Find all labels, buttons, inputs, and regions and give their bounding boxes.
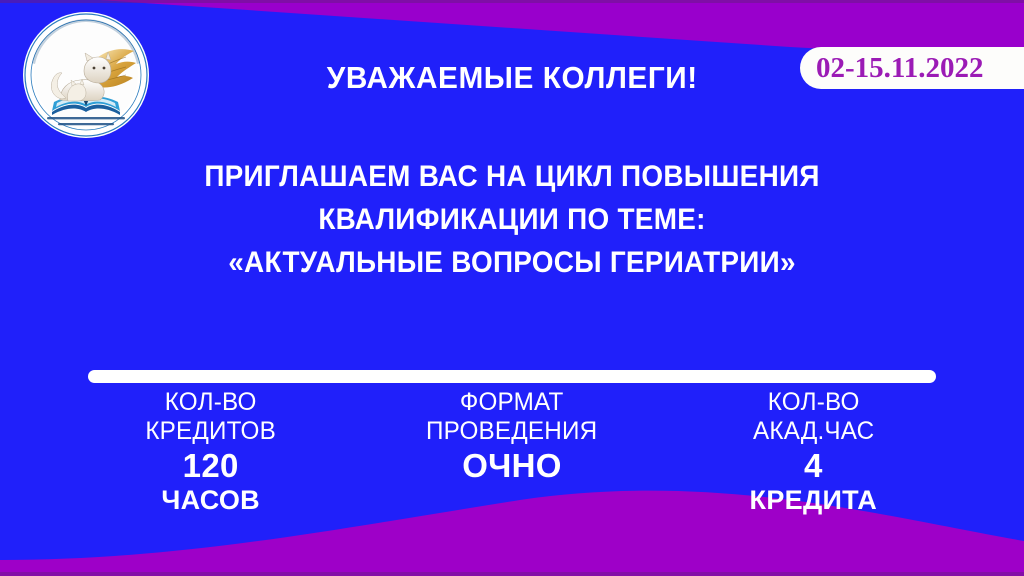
course-title-line-1: ПРИГЛАШАЕМ ВАС НА ЦИКЛ ПОВЫШЕНИЯ <box>149 155 874 198</box>
course-title-line-3: «АКТУАЛЬНЫЕ ВОПРОСЫ ГЕРИАТРИИ» <box>149 241 874 284</box>
stats-row: КОЛ-ВО КРЕДИТОВ 120 ЧАСОВ ФОРМАТ ПРОВЕДЕ… <box>60 388 964 516</box>
course-title-line-2: КВАЛИФИКАЦИИ ПО ТЕМЕ: <box>149 198 874 241</box>
university-emblem-logo <box>22 11 150 139</box>
stat-credits-label-1: КОЛ-ВО <box>65 388 357 417</box>
stat-academic-hours-label-1: КОЛ-ВО <box>667 388 959 417</box>
course-title: ПРИГЛАШАЕМ ВАС НА ЦИКЛ ПОВЫШЕНИЯ КВАЛИФИ… <box>122 155 902 284</box>
stat-academic-hours-value: 4 <box>663 447 964 485</box>
stat-academic-hours-label-2: АКАД.ЧАС <box>667 417 959 446</box>
stat-format-label-2: ПРОВЕДЕНИЯ <box>366 417 658 446</box>
stat-format: ФОРМАТ ПРОВЕДЕНИЯ ОЧНО <box>361 388 662 516</box>
date-badge: 02-15.11.2022 <box>800 47 1024 89</box>
announcement-slide: 02-15.11.2022 УВАЖАЕМЫЕ КОЛЛЕГИ! ПРИГЛАШ… <box>0 0 1024 576</box>
stat-credits: КОЛ-ВО КРЕДИТОВ 120 ЧАСОВ <box>60 388 361 516</box>
stat-credits-unit: ЧАСОВ <box>60 485 361 516</box>
stat-academic-hours-unit: КРЕДИТА <box>663 485 964 516</box>
stat-credits-label-2: КРЕДИТОВ <box>65 417 357 446</box>
date-badge-text: 02-15.11.2022 <box>816 52 984 85</box>
stat-format-label-1: ФОРМАТ <box>366 388 658 417</box>
divider-bar <box>88 370 936 383</box>
headline-text: УВАЖАЕМЫЕ КОЛЛЕГИ! <box>326 60 697 96</box>
stat-format-value: ОЧНО <box>361 447 662 485</box>
stat-credits-value: 120 <box>60 447 361 485</box>
stat-academic-hours: КОЛ-ВО АКАД.ЧАС 4 КРЕДИТА <box>663 388 964 516</box>
